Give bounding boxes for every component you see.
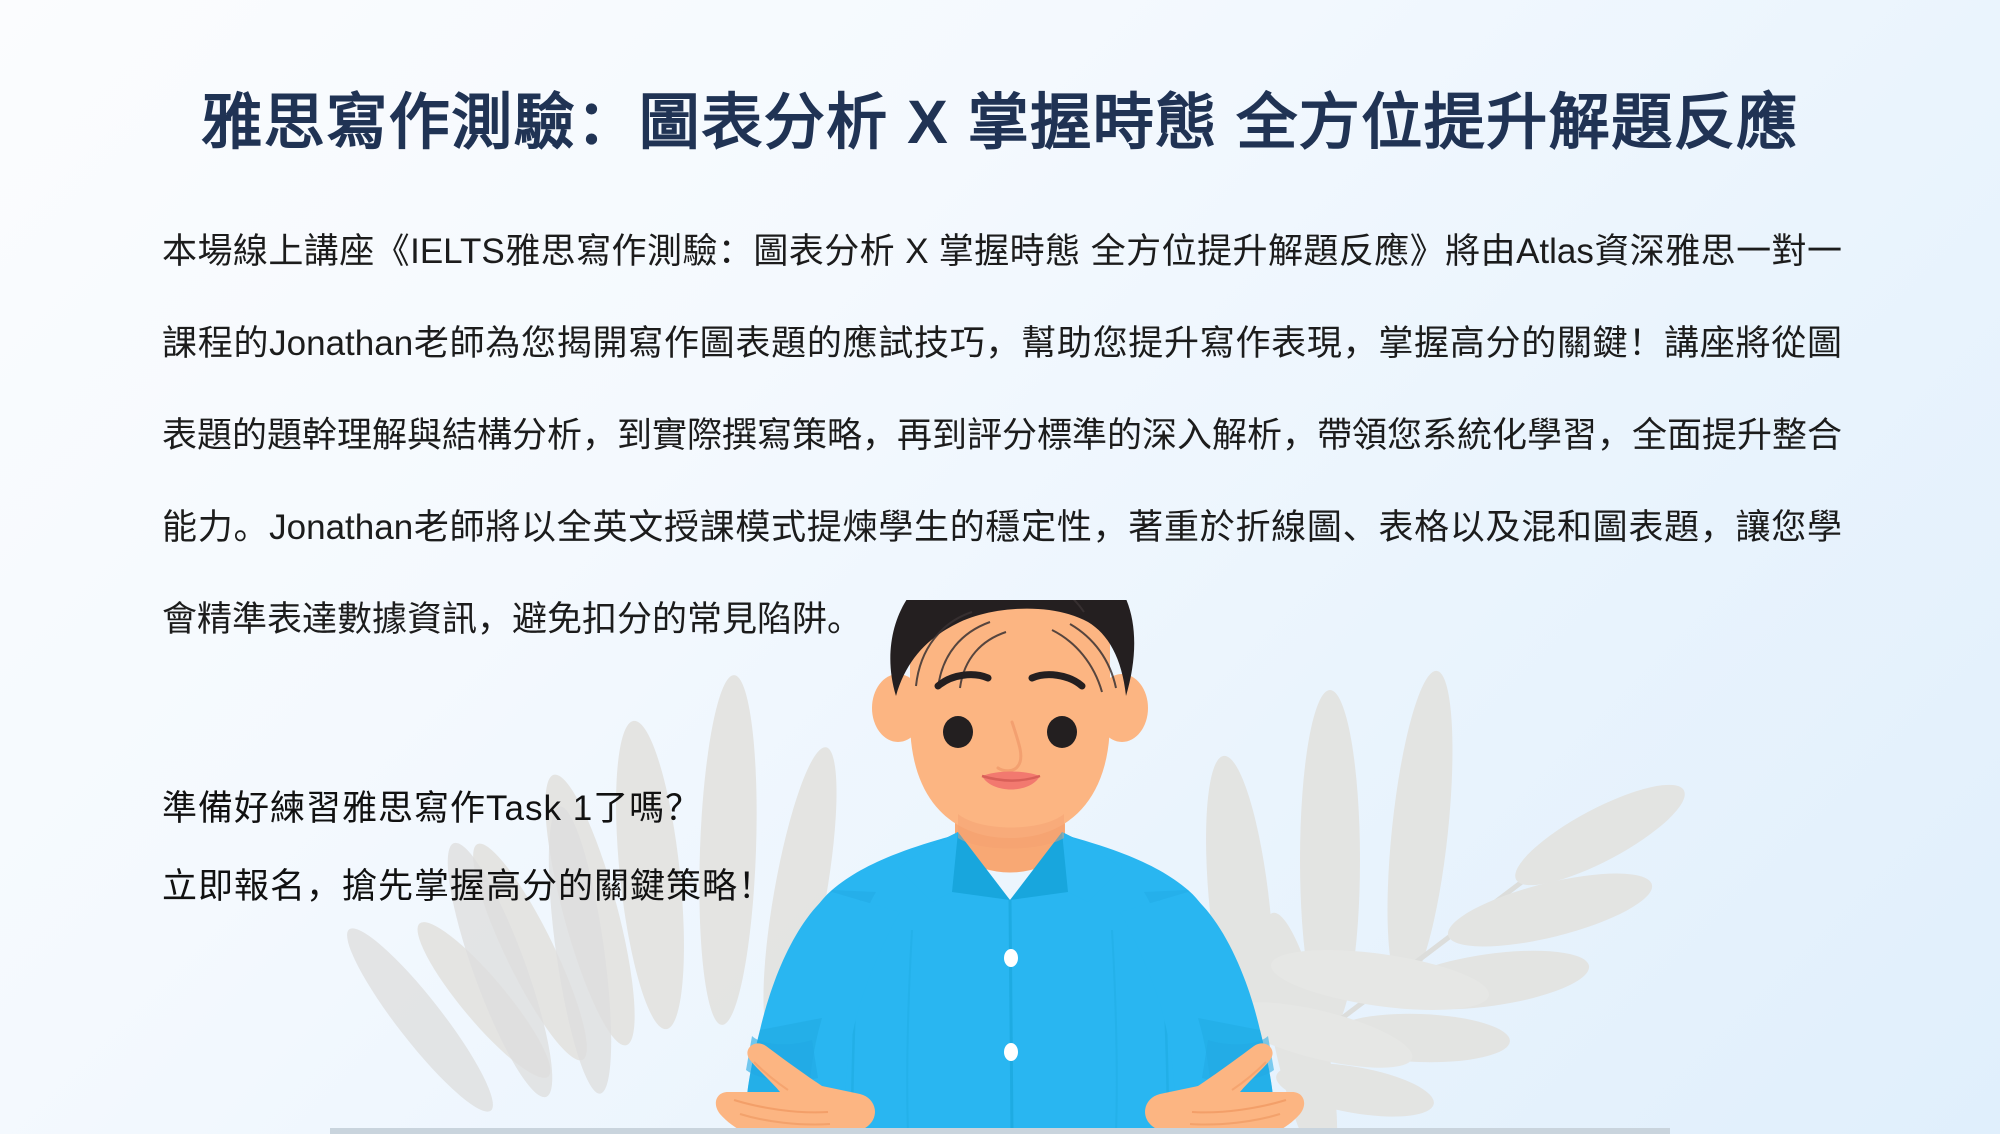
cta-line-1: 準備好練習雅思寫作Task 1了嗎？ xyxy=(162,770,774,848)
bottom-divider xyxy=(330,1128,1670,1134)
cta-line-2: 立即報名，搶先掌握高分的關鍵策略！ xyxy=(162,848,774,926)
body-paragraph: 本場線上講座《IELTS雅思寫作測驗：圖表分析 X 掌握時態 全方位提升解題反應… xyxy=(162,206,1842,666)
cta-block: 準備好練習雅思寫作Task 1了嗎？ 立即報名，搶先掌握高分的關鍵策略！ xyxy=(162,770,774,926)
body-paragraph-block: 本場線上講座《IELTS雅思寫作測驗：圖表分析 X 掌握時態 全方位提升解題反應… xyxy=(162,206,1842,666)
poster-canvas: 雅思寫作測驗：圖表分析 X 掌握時態 全方位提升解題反應 本場線上講座《IELT… xyxy=(0,0,2000,1134)
page-title: 雅思寫作測驗：圖表分析 X 掌握時態 全方位提升解題反應 xyxy=(0,72,2000,161)
